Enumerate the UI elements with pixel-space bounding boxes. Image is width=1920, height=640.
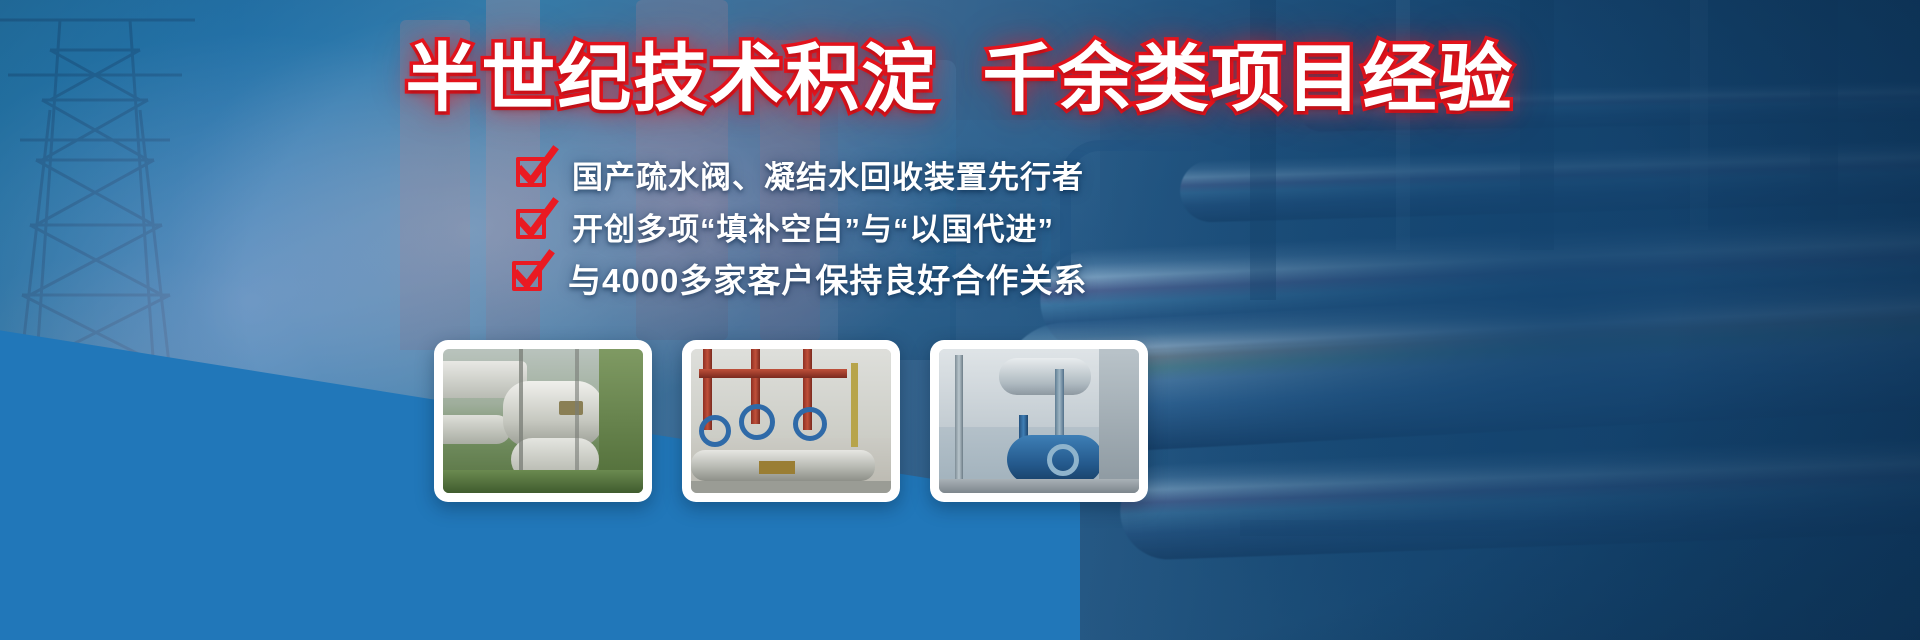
promo-banner: 半世纪技术积淀 千余类项目经验 国产疏水阀、凝结水回收装置先行者 开创多项“填补… xyxy=(0,0,1920,640)
list-item-label: 开创多项“填补空白”与“以国代进” xyxy=(572,204,1054,249)
check-box-icon xyxy=(516,157,550,191)
blue-tank-pipework-photo xyxy=(939,349,1139,493)
condensate-recovery-vessels-photo xyxy=(443,349,643,493)
photo-card-row xyxy=(434,340,1148,502)
photo-card[interactable] xyxy=(434,340,652,502)
list-item: 开创多项“填补空白”与“以国代进” xyxy=(516,200,1087,252)
red-pipework-valve-skid-photo xyxy=(691,349,891,493)
check-box-icon xyxy=(512,261,546,295)
photo-card[interactable] xyxy=(930,340,1148,502)
list-item-label: 与4000多家客户保持良好合作关系 xyxy=(568,254,1087,302)
page-title: 半世纪技术积淀 千余类项目经验 xyxy=(0,38,1920,119)
photo-card[interactable] xyxy=(682,340,900,502)
list-item-label: 国产疏水阀、凝结水回收装置先行者 xyxy=(572,152,1084,197)
check-box-icon xyxy=(516,209,550,243)
list-item: 国产疏水阀、凝结水回收装置先行者 xyxy=(516,148,1087,200)
feature-bullet-list: 国产疏水阀、凝结水回收装置先行者 开创多项“填补空白”与“以国代进” 与4000… xyxy=(516,148,1087,304)
list-item: 与4000多家客户保持良好合作关系 xyxy=(512,252,1087,304)
